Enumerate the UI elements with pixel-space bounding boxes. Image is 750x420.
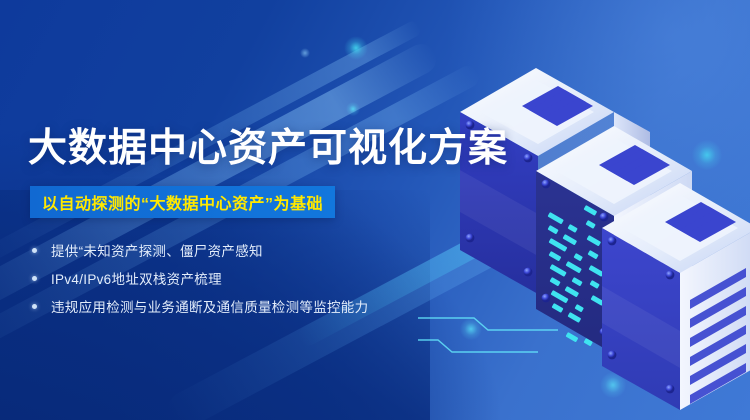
- subtitle-banner: 以自动探测的“大数据中心资产”为基础: [30, 186, 335, 218]
- subtitle-text: 以自动探测的“大数据中心资产”为基础: [42, 190, 323, 214]
- list-item: 违规应用检测与业务通断及通信质量检测等监控能力: [28, 292, 448, 320]
- banner-root: 大数据中心资产可视化方案 以自动探测的“大数据中心资产”为基础 提供“未知资产探…: [0, 0, 750, 420]
- server-illustration: [418, 50, 750, 410]
- server-rack-right: [602, 183, 750, 410]
- bullet-dot-icon: [32, 304, 37, 309]
- list-item-label: 违规应用检测与业务通断及通信质量检测等监控能力: [51, 296, 368, 316]
- list-item-label: 提供“未知资产探测、僵尸资产感知: [51, 240, 263, 260]
- bullet-dot-icon: [32, 248, 37, 253]
- list-item-label: IPv4/IPv6地址双栈资产梳理: [51, 268, 222, 288]
- bullet-dot-icon: [32, 276, 37, 281]
- page-title: 大数据中心资产可视化方案: [28, 124, 508, 174]
- feature-list: 提供“未知资产探测、僵尸资产感知 IPv4/IPv6地址双栈资产梳理 违规应用检…: [28, 236, 448, 320]
- list-item: IPv4/IPv6地址双栈资产梳理: [28, 264, 448, 292]
- text-content: 大数据中心资产可视化方案 以自动探测的“大数据中心资产”为基础 提供“未知资产探…: [0, 0, 460, 420]
- list-item: 提供“未知资产探测、僵尸资产感知: [28, 236, 448, 264]
